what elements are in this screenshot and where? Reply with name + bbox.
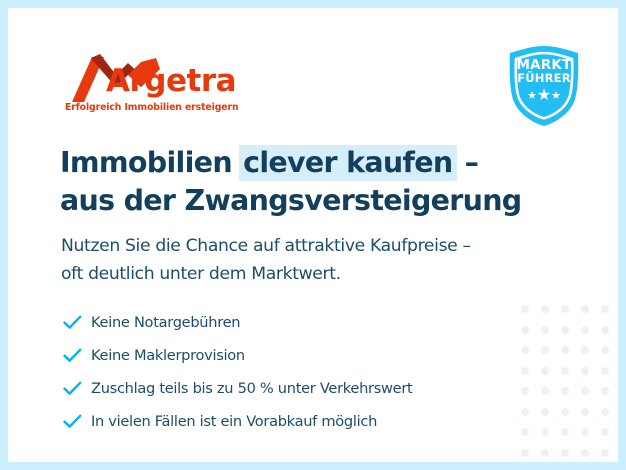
dot [561, 387, 569, 395]
subheading-line-1: Nutzen Sie die Chance auf attraktive Kau… [61, 232, 561, 260]
dot [561, 449, 569, 457]
headline-line-1-after: – [455, 146, 478, 179]
dot [541, 428, 549, 436]
dot [581, 367, 589, 375]
headline-line-2: aus der Zwangsversteigerung [60, 182, 580, 220]
dot-grid-decoration [521, 305, 613, 453]
argetra-logo[interactable]: Argetra Erfolgreich Immobilien ersteiger… [64, 52, 210, 118]
logo-wordmark: Argetra [106, 66, 236, 97]
dot [581, 428, 589, 436]
dot [541, 367, 549, 375]
headline-highlight: clever kaufen [239, 145, 457, 181]
dot [581, 346, 589, 354]
check-icon [63, 414, 91, 429]
dot [561, 367, 569, 375]
dot [601, 387, 609, 395]
dot [601, 326, 609, 334]
subheading: Nutzen Sie die Chance auf attraktive Kau… [61, 232, 561, 288]
list-item-label: Keine Maklerprovision [91, 347, 245, 364]
dot [601, 367, 609, 375]
dot [541, 346, 549, 354]
dot [581, 387, 589, 395]
dot [561, 305, 569, 313]
list-item: Zuschlag teils bis zu 50 % unter Verkehr… [63, 372, 523, 405]
dot [541, 408, 549, 416]
headline: Immobilien clever kaufen – aus der Zwang… [60, 144, 580, 220]
dot [601, 305, 609, 313]
headline-line-1: Immobilien clever kaufen – [60, 144, 580, 182]
headline-line-1-before: Immobilien [60, 146, 241, 179]
dot [561, 326, 569, 334]
dot [601, 408, 609, 416]
dot [601, 346, 609, 354]
list-item: Keine Maklerprovision [63, 339, 523, 372]
list-item-label: Keine Notargebühren [91, 314, 240, 331]
subheading-line-2: oft deutlich unter dem Marktwert. [61, 260, 561, 288]
list-item-label: Zuschlag teils bis zu 50 % unter Verkehr… [91, 380, 412, 397]
logo-tagline: Erfolgreich Immobilien ersteigern [65, 102, 238, 113]
check-icon [63, 381, 91, 396]
dot [561, 408, 569, 416]
dot [581, 326, 589, 334]
promo-banner: Argetra Erfolgreich Immobilien ersteiger… [0, 0, 626, 470]
benefit-list: Keine Notargebühren Keine Maklerprovisio… [63, 306, 523, 438]
dot [561, 346, 569, 354]
list-item: Keine Notargebühren [63, 306, 523, 339]
dot [521, 449, 529, 457]
shield-icon [502, 44, 586, 128]
dot [601, 449, 609, 457]
dot [601, 428, 609, 436]
dot [581, 305, 589, 313]
check-icon [63, 348, 91, 363]
dot [581, 408, 589, 416]
dot [581, 449, 589, 457]
dot [541, 387, 549, 395]
dot [561, 428, 569, 436]
list-item-label: In vielen Fällen ist ein Vorabkauf mögli… [91, 413, 377, 430]
banner-canvas: Argetra Erfolgreich Immobilien ersteiger… [8, 8, 618, 462]
dot [541, 326, 549, 334]
list-item: In vielen Fällen ist ein Vorabkauf mögli… [63, 405, 523, 438]
dot [541, 449, 549, 457]
check-icon [63, 315, 91, 330]
dot [541, 305, 549, 313]
markt-fuehrer-badge: MARKT FÜHRER ★ ★ ★ [502, 44, 586, 128]
